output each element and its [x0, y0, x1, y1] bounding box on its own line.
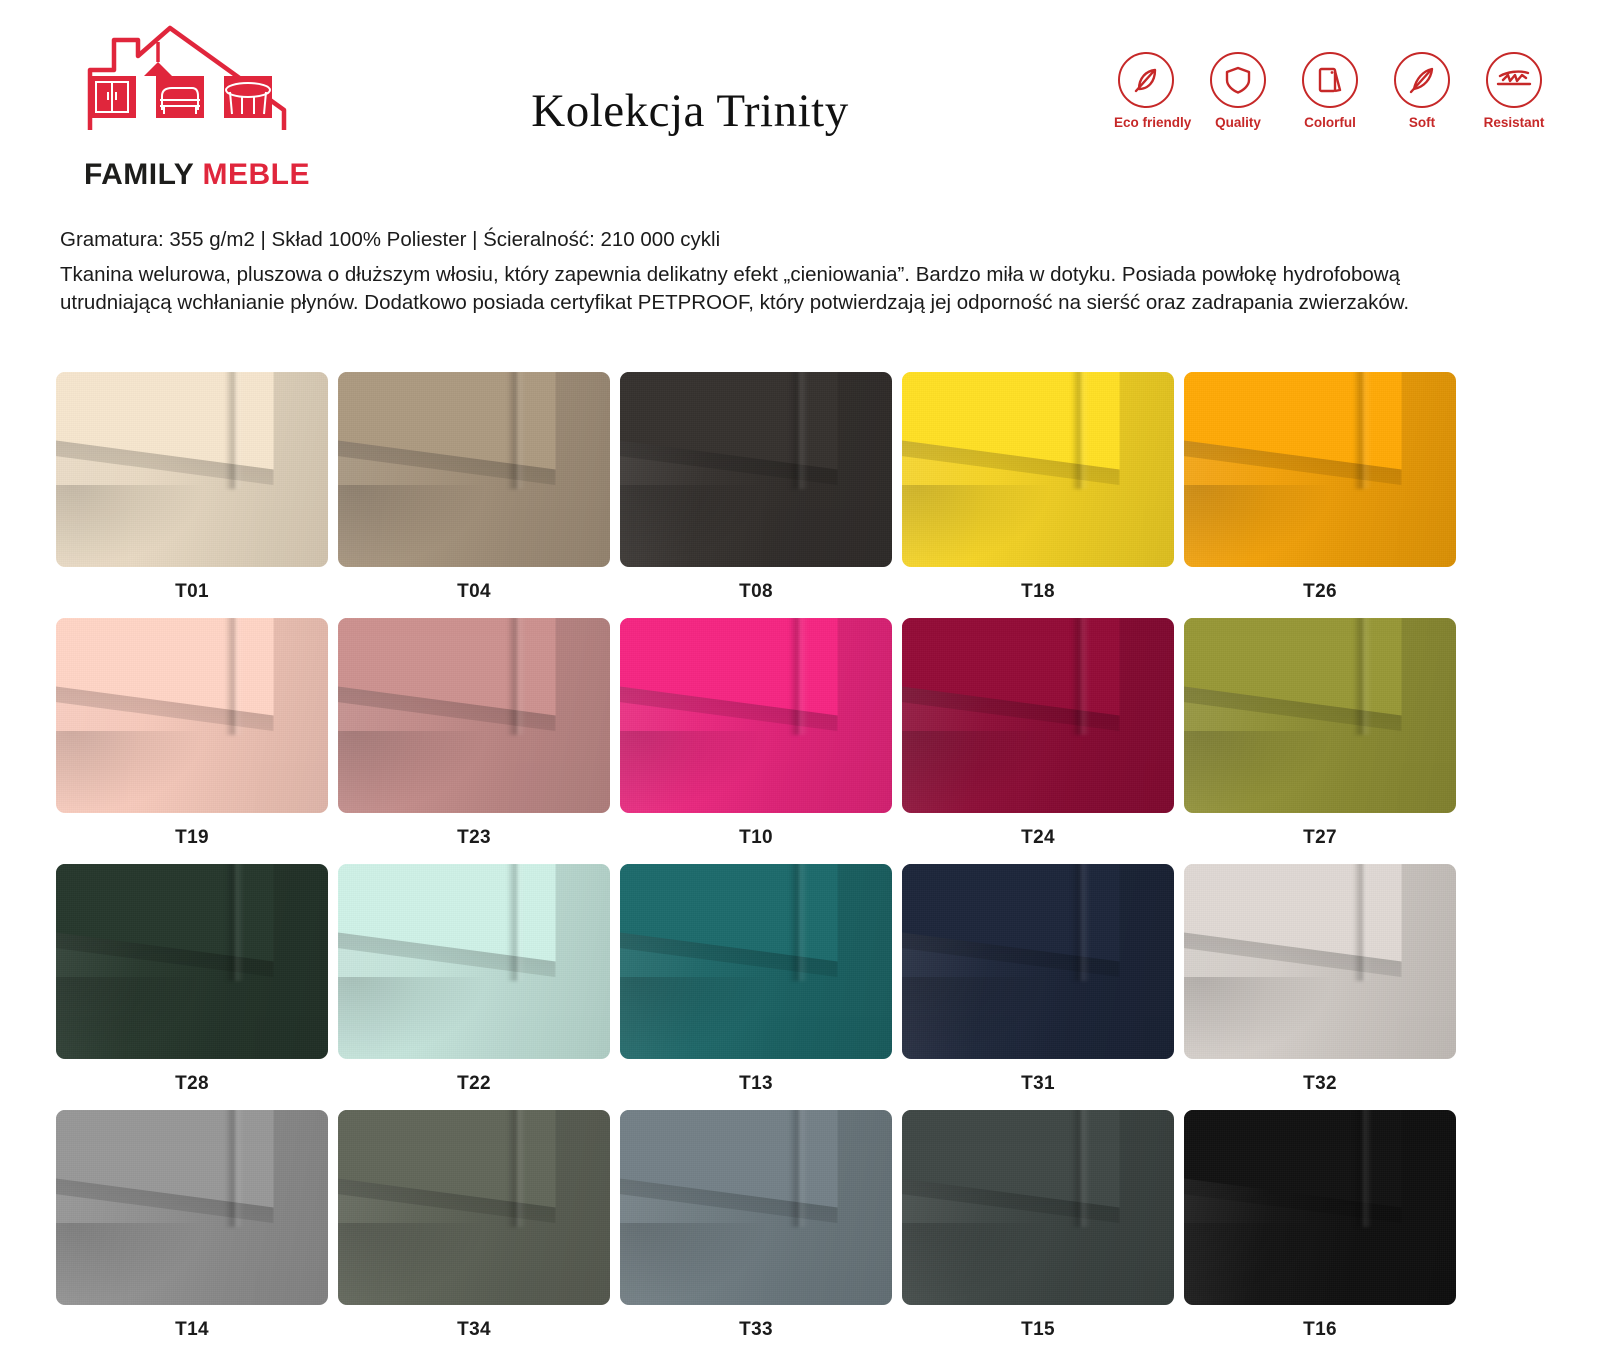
swatch-label: T15: [902, 1305, 1174, 1356]
fabric-swatch-t16[interactable]: [1184, 1110, 1456, 1305]
swatch-cell: T27: [1184, 618, 1456, 864]
badge-colorful: Colorful: [1298, 52, 1362, 130]
fabric-description-text: Tkanina welurowa, pluszowa o dłuższym wł…: [60, 261, 1460, 316]
brand-name-meble: MEBLE: [203, 158, 311, 191]
swatch-weave: [1184, 1110, 1456, 1305]
fabric-swatch-t01[interactable]: [56, 372, 328, 567]
fabric-swatch-t04[interactable]: [338, 372, 610, 567]
fabric-swatch-t23[interactable]: [338, 618, 610, 813]
swatch-cell: T28: [56, 864, 328, 1110]
swatch-cell: T18: [902, 372, 1174, 618]
swatch-weave: [1184, 372, 1456, 567]
swatch-cell: T19: [56, 618, 328, 864]
swatch-weave: [338, 372, 610, 567]
swatch-cell: T16: [1184, 1110, 1456, 1356]
swatch-weave: [620, 864, 892, 1059]
swatch-cell: T13: [620, 864, 892, 1110]
brand-name-family: FAMILY: [84, 158, 194, 191]
fabric-swatch-t32[interactable]: [1184, 864, 1456, 1059]
badge-circle: [1486, 52, 1542, 108]
leaf-icon: [1129, 63, 1163, 97]
swatch-cell: T26: [1184, 372, 1456, 618]
swatch-label: T27: [1184, 813, 1456, 864]
fabric-swatch-t13[interactable]: [620, 864, 892, 1059]
badge-circle: [1210, 52, 1266, 108]
swatch-grid: T01T04T08T18T26T19T23T10T24T27T28T22T13T…: [56, 372, 1456, 1356]
swatch-label: T26: [1184, 567, 1456, 618]
swatch-label: T14: [56, 1305, 328, 1356]
fabric-swatch-t19[interactable]: [56, 618, 328, 813]
swatch-weave: [56, 618, 328, 813]
swatch-label: T08: [620, 567, 892, 618]
fabric-swatch-t10[interactable]: [620, 618, 892, 813]
fabric-specs: Gramatura: 355 g/m2 | Skład 100% Poliest…: [60, 228, 1460, 252]
swatch-cell: T23: [338, 618, 610, 864]
feather-icon: [1405, 63, 1439, 97]
fabric-swatch-t28[interactable]: [56, 864, 328, 1059]
fabric-swatch-t34[interactable]: [338, 1110, 610, 1305]
fabric-swatch-t31[interactable]: [902, 864, 1174, 1059]
swatch-label: T19: [56, 813, 328, 864]
badge-quality: Quality: [1206, 52, 1270, 130]
swatch-label: T18: [902, 567, 1174, 618]
swatch-weave: [902, 864, 1174, 1059]
swatch-weave: [620, 618, 892, 813]
badge-label: Resistant: [1482, 115, 1546, 130]
badge-eco-friendly: Eco friendly: [1114, 52, 1178, 130]
swatch-weave: [338, 618, 610, 813]
fabric-swatch-t27[interactable]: [1184, 618, 1456, 813]
swatch-cell: T33: [620, 1110, 892, 1356]
shield-icon: [1221, 63, 1255, 97]
badge-label: Eco friendly: [1114, 115, 1178, 130]
badge-label: Quality: [1206, 115, 1270, 130]
swatch-weave: [1184, 864, 1456, 1059]
swatch-label: T33: [620, 1305, 892, 1356]
fabric-swatch-t33[interactable]: [620, 1110, 892, 1305]
swatch-cell: T08: [620, 372, 892, 618]
fabric-swatch-t26[interactable]: [1184, 372, 1456, 567]
swatch-label: T22: [338, 1059, 610, 1110]
swatch-weave: [1184, 618, 1456, 813]
swatch-label: T31: [902, 1059, 1174, 1110]
swatch-weave: [338, 864, 610, 1059]
swatch-cell: T15: [902, 1110, 1174, 1356]
swatch-weave: [902, 372, 1174, 567]
swatch-cell: T22: [338, 864, 610, 1110]
swatch-weave: [56, 864, 328, 1059]
swatch-label: T10: [620, 813, 892, 864]
swatch-label: T04: [338, 567, 610, 618]
swatch-cell: T01: [56, 372, 328, 618]
swatch-cell: T04: [338, 372, 610, 618]
fabric-swatch-t18[interactable]: [902, 372, 1174, 567]
swatch-cell: T34: [338, 1110, 610, 1356]
fabric-swatch-icon: [1313, 63, 1347, 97]
badge-label: Soft: [1390, 115, 1454, 130]
swatch-weave: [56, 372, 328, 567]
swatch-label: T24: [902, 813, 1174, 864]
page-header: FAMILY MEBLE Kolekcja Trinity Eco friend…: [0, 0, 1600, 205]
badge-resistant: Resistant: [1482, 52, 1546, 130]
abrasion-zigzag-icon: [1495, 63, 1533, 97]
fabric-swatch-t22[interactable]: [338, 864, 610, 1059]
swatch-cell: T32: [1184, 864, 1456, 1110]
swatch-cell: T31: [902, 864, 1174, 1110]
feature-badges: Eco friendly Quality Colorful: [1114, 52, 1546, 130]
swatch-weave: [338, 1110, 610, 1305]
swatch-label: T32: [1184, 1059, 1456, 1110]
swatch-label: T01: [56, 567, 328, 618]
badge-circle: [1302, 52, 1358, 108]
fabric-swatch-t14[interactable]: [56, 1110, 328, 1305]
badge-circle: [1394, 52, 1450, 108]
fabric-swatch-t24[interactable]: [902, 618, 1174, 813]
swatch-weave: [620, 1110, 892, 1305]
badge-label: Colorful: [1298, 115, 1362, 130]
fabric-description: Gramatura: 355 g/m2 | Skład 100% Poliest…: [60, 228, 1460, 316]
swatch-label: T13: [620, 1059, 892, 1110]
swatch-weave: [902, 618, 1174, 813]
swatch-label: T28: [56, 1059, 328, 1110]
swatch-label: T34: [338, 1305, 610, 1356]
swatch-cell: T10: [620, 618, 892, 864]
brand-wordmark: FAMILY MEBLE: [52, 158, 342, 192]
swatch-cell: T24: [902, 618, 1174, 864]
swatch-weave: [620, 372, 892, 567]
badge-soft: Soft: [1390, 52, 1454, 130]
swatch-label: T23: [338, 813, 610, 864]
swatch-cell: T14: [56, 1110, 328, 1356]
badge-circle: [1118, 52, 1174, 108]
fabric-swatch-t15[interactable]: [902, 1110, 1174, 1305]
swatch-weave: [902, 1110, 1174, 1305]
swatch-label: T16: [1184, 1305, 1456, 1356]
fabric-swatch-t08[interactable]: [620, 372, 892, 567]
swatch-weave: [56, 1110, 328, 1305]
